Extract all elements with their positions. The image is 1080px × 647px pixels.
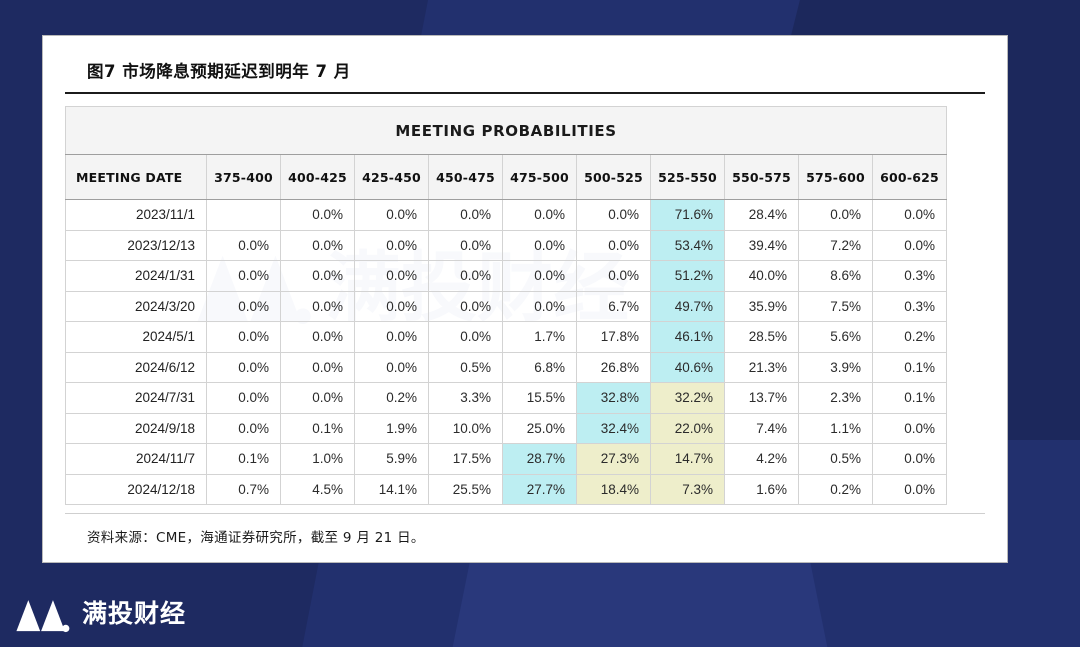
column-header-500-525: 500-525 xyxy=(577,155,651,200)
cell-probability: 40.6% xyxy=(651,352,725,383)
cell-meeting-date: 2023/11/1 xyxy=(66,200,207,231)
cell-probability: 0.0% xyxy=(799,200,873,231)
column-header-425-450: 425-450 xyxy=(355,155,429,200)
cell-meeting-date: 2024/12/18 xyxy=(66,474,207,505)
cell-probability: 0.0% xyxy=(577,230,651,261)
cell-probability: 35.9% xyxy=(725,291,799,322)
cell-probability: 40.0% xyxy=(725,261,799,292)
cell-probability: 39.4% xyxy=(725,230,799,261)
cell-probability: 6.7% xyxy=(577,291,651,322)
cell-meeting-date: 2024/7/31 xyxy=(66,383,207,414)
cell-probability: 0.0% xyxy=(281,322,355,353)
cell-probability: 0.0% xyxy=(207,352,281,383)
cell-probability: 0.0% xyxy=(355,352,429,383)
table-row: 2023/12/130.0%0.0%0.0%0.0%0.0%0.0%53.4%3… xyxy=(66,230,947,261)
source-note: 资料来源：CME，海通证券研究所，截至 9 月 21 日。 xyxy=(65,514,985,546)
cell-probability: 0.0% xyxy=(355,322,429,353)
cell-probability: 1.1% xyxy=(799,413,873,444)
cell-probability: 0.0% xyxy=(503,291,577,322)
cell-probability: 53.4% xyxy=(651,230,725,261)
cell-probability: 0.0% xyxy=(207,230,281,261)
cell-probability: 0.0% xyxy=(281,352,355,383)
cell-probability: 4.5% xyxy=(281,474,355,505)
cell-probability: 17.8% xyxy=(577,322,651,353)
cell-probability: 27.7% xyxy=(503,474,577,505)
cell-probability: 0.0% xyxy=(429,291,503,322)
cell-probability: 46.1% xyxy=(651,322,725,353)
figure-title: 图7 市场降息预期延迟到明年 7 月 xyxy=(65,54,985,92)
table-row: 2024/9/180.0%0.1%1.9%10.0%25.0%32.4%22.0… xyxy=(66,413,947,444)
cell-meeting-date: 2024/5/1 xyxy=(66,322,207,353)
mountain-m-icon xyxy=(14,591,70,633)
cell-probability: 28.5% xyxy=(725,322,799,353)
cell-probability: 13.7% xyxy=(725,383,799,414)
cell-probability: 7.3% xyxy=(651,474,725,505)
cell-probability: 8.6% xyxy=(799,261,873,292)
cell-probability: 0.0% xyxy=(207,413,281,444)
cell-probability: 7.2% xyxy=(799,230,873,261)
cell-probability: 0.0% xyxy=(355,291,429,322)
cell-probability: 7.4% xyxy=(725,413,799,444)
cell-probability: 27.3% xyxy=(577,444,651,475)
cell-probability: 3.9% xyxy=(799,352,873,383)
cell-probability: 14.1% xyxy=(355,474,429,505)
column-header-400-425: 400-425 xyxy=(281,155,355,200)
table-row: 2024/11/70.1%1.0%5.9%17.5%28.7%27.3%14.7… xyxy=(66,444,947,475)
cell-probability: 17.5% xyxy=(429,444,503,475)
table-row: 2024/12/180.7%4.5%14.1%25.5%27.7%18.4%7.… xyxy=(66,474,947,505)
cell-probability: 0.0% xyxy=(503,200,577,231)
cell-probability: 0.3% xyxy=(873,291,947,322)
cell-probability: 0.3% xyxy=(873,261,947,292)
cell-probability: 1.0% xyxy=(281,444,355,475)
cell-probability: 0.1% xyxy=(207,444,281,475)
cell-probability: 1.9% xyxy=(355,413,429,444)
cell-meeting-date: 2024/11/7 xyxy=(66,444,207,475)
column-header-525-550: 525-550 xyxy=(651,155,725,200)
table-row: 2024/7/310.0%0.0%0.2%3.3%15.5%32.8%32.2%… xyxy=(66,383,947,414)
cell-probability: 28.4% xyxy=(725,200,799,231)
table-row: 2024/6/120.0%0.0%0.0%0.5%6.8%26.8%40.6%2… xyxy=(66,352,947,383)
cell-probability: 32.8% xyxy=(577,383,651,414)
cell-probability: 22.0% xyxy=(651,413,725,444)
cell-probability: 71.6% xyxy=(651,200,725,231)
cell-probability: 0.7% xyxy=(207,474,281,505)
cell-probability: 5.6% xyxy=(799,322,873,353)
cell-probability: 0.0% xyxy=(355,261,429,292)
cell-probability: 51.2% xyxy=(651,261,725,292)
column-header-600-625: 600-625 xyxy=(873,155,947,200)
cell-probability: 0.0% xyxy=(577,200,651,231)
cell-probability: 0.0% xyxy=(281,291,355,322)
table-row: 2024/5/10.0%0.0%0.0%0.0%1.7%17.8%46.1%28… xyxy=(66,322,947,353)
cell-meeting-date: 2024/9/18 xyxy=(66,413,207,444)
cell-probability: 26.8% xyxy=(577,352,651,383)
cell-probability: 0.0% xyxy=(873,230,947,261)
cell-probability: 10.0% xyxy=(429,413,503,444)
cell-probability: 6.8% xyxy=(503,352,577,383)
cell-probability: 0.1% xyxy=(873,383,947,414)
table-band-title: MEETING PROBABILITIES xyxy=(66,107,947,155)
title-divider xyxy=(65,92,985,94)
cell-probability: 0.0% xyxy=(503,261,577,292)
column-header-375-400: 375-400 xyxy=(207,155,281,200)
cell-probability: 0.0% xyxy=(429,230,503,261)
cell-probability: 25.0% xyxy=(503,413,577,444)
cell-probability: 14.7% xyxy=(651,444,725,475)
cell-probability: 0.0% xyxy=(207,383,281,414)
cell-probability: 0.1% xyxy=(281,413,355,444)
cell-probability xyxy=(207,200,281,231)
meeting-probabilities-table-wrapper: MEETING PROBABILITIES MEETING DATE375-40… xyxy=(65,106,946,505)
cell-probability: 49.7% xyxy=(651,291,725,322)
cell-probability: 0.0% xyxy=(281,200,355,231)
cell-probability: 5.9% xyxy=(355,444,429,475)
cell-probability: 0.0% xyxy=(429,261,503,292)
cell-probability: 0.0% xyxy=(873,413,947,444)
cell-probability: 0.0% xyxy=(281,230,355,261)
column-header-575-600: 575-600 xyxy=(799,155,873,200)
cell-probability: 0.0% xyxy=(355,200,429,231)
cell-probability: 0.0% xyxy=(207,261,281,292)
cell-meeting-date: 2024/1/31 xyxy=(66,261,207,292)
cell-probability: 0.5% xyxy=(429,352,503,383)
cell-probability: 0.2% xyxy=(873,322,947,353)
cell-probability: 32.4% xyxy=(577,413,651,444)
meeting-probabilities-table: MEETING PROBABILITIES MEETING DATE375-40… xyxy=(65,106,947,505)
cell-probability: 18.4% xyxy=(577,474,651,505)
column-header-meeting-date: MEETING DATE xyxy=(66,155,207,200)
cell-probability: 3.3% xyxy=(429,383,503,414)
cell-meeting-date: 2024/3/20 xyxy=(66,291,207,322)
cell-probability: 1.7% xyxy=(503,322,577,353)
cell-probability: 0.5% xyxy=(799,444,873,475)
cell-probability: 0.0% xyxy=(281,261,355,292)
cell-meeting-date: 2024/6/12 xyxy=(66,352,207,383)
table-row: 2024/3/200.0%0.0%0.0%0.0%0.0%6.7%49.7%35… xyxy=(66,291,947,322)
cell-probability: 0.0% xyxy=(355,230,429,261)
cell-probability: 0.1% xyxy=(873,352,947,383)
cell-probability: 32.2% xyxy=(651,383,725,414)
cell-probability: 25.5% xyxy=(429,474,503,505)
cell-probability: 21.3% xyxy=(725,352,799,383)
cell-probability: 28.7% xyxy=(503,444,577,475)
footer-brand: 满投财经 xyxy=(14,591,186,633)
cell-probability: 2.3% xyxy=(799,383,873,414)
column-header-450-475: 450-475 xyxy=(429,155,503,200)
cell-probability: 0.2% xyxy=(799,474,873,505)
cell-probability: 0.0% xyxy=(873,200,947,231)
cell-probability: 0.0% xyxy=(207,322,281,353)
cell-probability: 7.5% xyxy=(799,291,873,322)
column-header-550-575: 550-575 xyxy=(725,155,799,200)
cell-probability: 0.0% xyxy=(503,230,577,261)
figure-card: 图7 市场降息预期延迟到明年 7 月 满投财经 MEETING PROBABIL… xyxy=(42,35,1008,563)
cell-meeting-date: 2023/12/13 xyxy=(66,230,207,261)
cell-probability: 0.0% xyxy=(577,261,651,292)
table-row: 2024/1/310.0%0.0%0.0%0.0%0.0%0.0%51.2%40… xyxy=(66,261,947,292)
table-column-header-row: MEETING DATE375-400400-425425-450450-475… xyxy=(66,155,947,200)
cell-probability: 0.2% xyxy=(355,383,429,414)
cell-probability: 4.2% xyxy=(725,444,799,475)
table-row: 2023/11/10.0%0.0%0.0%0.0%0.0%71.6%28.4%0… xyxy=(66,200,947,231)
cell-probability: 0.0% xyxy=(281,383,355,414)
cell-probability: 0.0% xyxy=(429,200,503,231)
cell-probability: 0.0% xyxy=(873,474,947,505)
brand-name: 满投财经 xyxy=(82,594,186,630)
column-header-475-500: 475-500 xyxy=(503,155,577,200)
cell-probability: 0.0% xyxy=(429,322,503,353)
table-body: 2023/11/10.0%0.0%0.0%0.0%0.0%71.6%28.4%0… xyxy=(66,200,947,505)
cell-probability: 15.5% xyxy=(503,383,577,414)
cell-probability: 0.0% xyxy=(873,444,947,475)
cell-probability: 0.0% xyxy=(207,291,281,322)
cell-probability: 1.6% xyxy=(725,474,799,505)
